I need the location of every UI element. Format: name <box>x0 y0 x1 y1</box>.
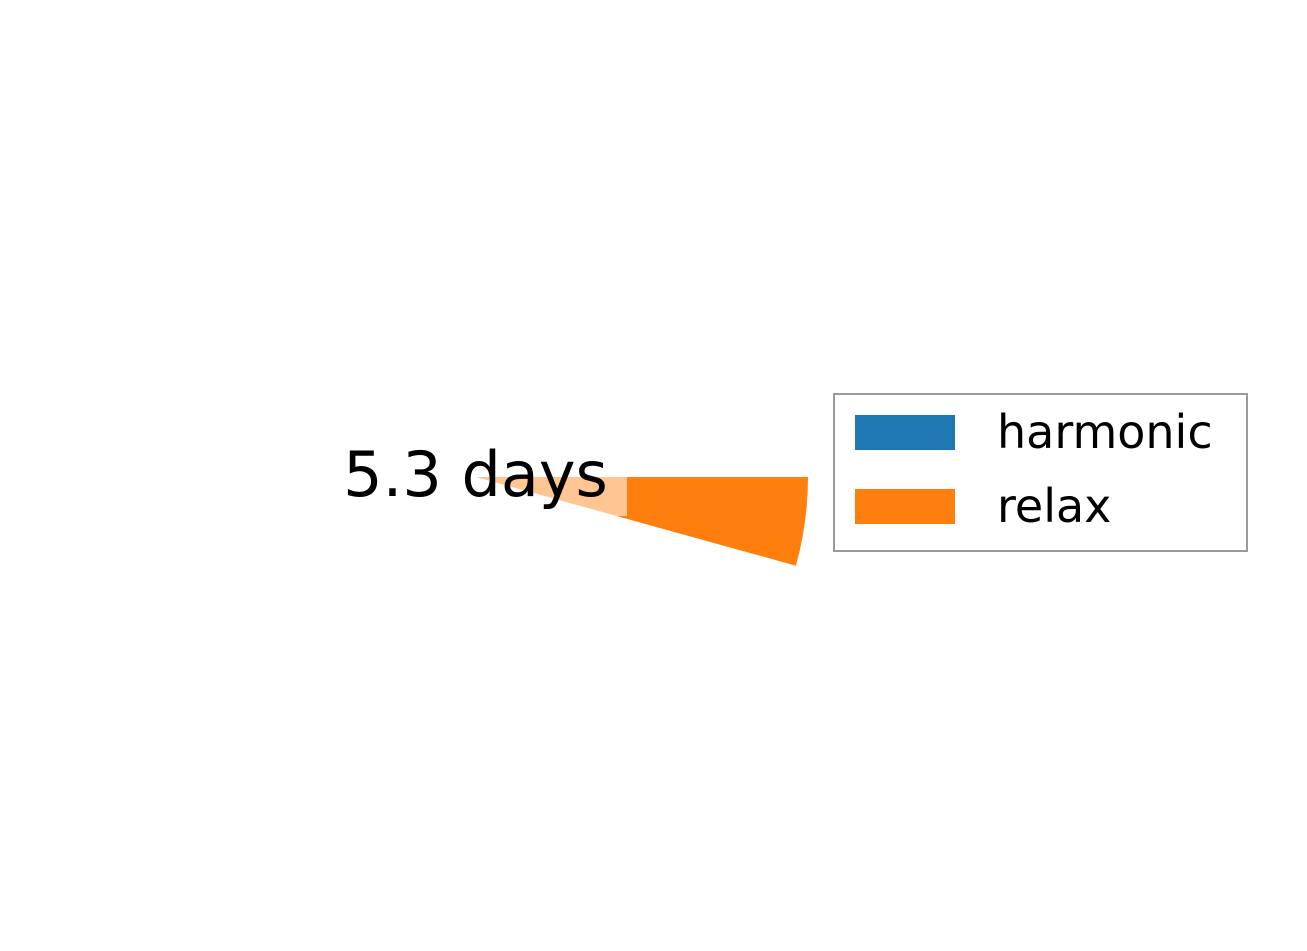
legend-label-harmonic: harmonic <box>997 409 1213 455</box>
figure-canvas: 5.3 days harmonic relax <box>0 0 1307 951</box>
legend-entry-harmonic[interactable]: harmonic <box>835 395 1246 469</box>
legend-label-relax: relax <box>997 483 1111 529</box>
pie-center-label: 5.3 days <box>324 434 627 516</box>
pie-center-label-text: 5.3 days <box>343 444 608 506</box>
legend-entry-relax[interactable]: relax <box>835 469 1246 543</box>
legend-swatch-harmonic <box>855 415 955 450</box>
legend-swatch-relax <box>855 489 955 524</box>
chart-legend: harmonic relax <box>833 393 1248 552</box>
